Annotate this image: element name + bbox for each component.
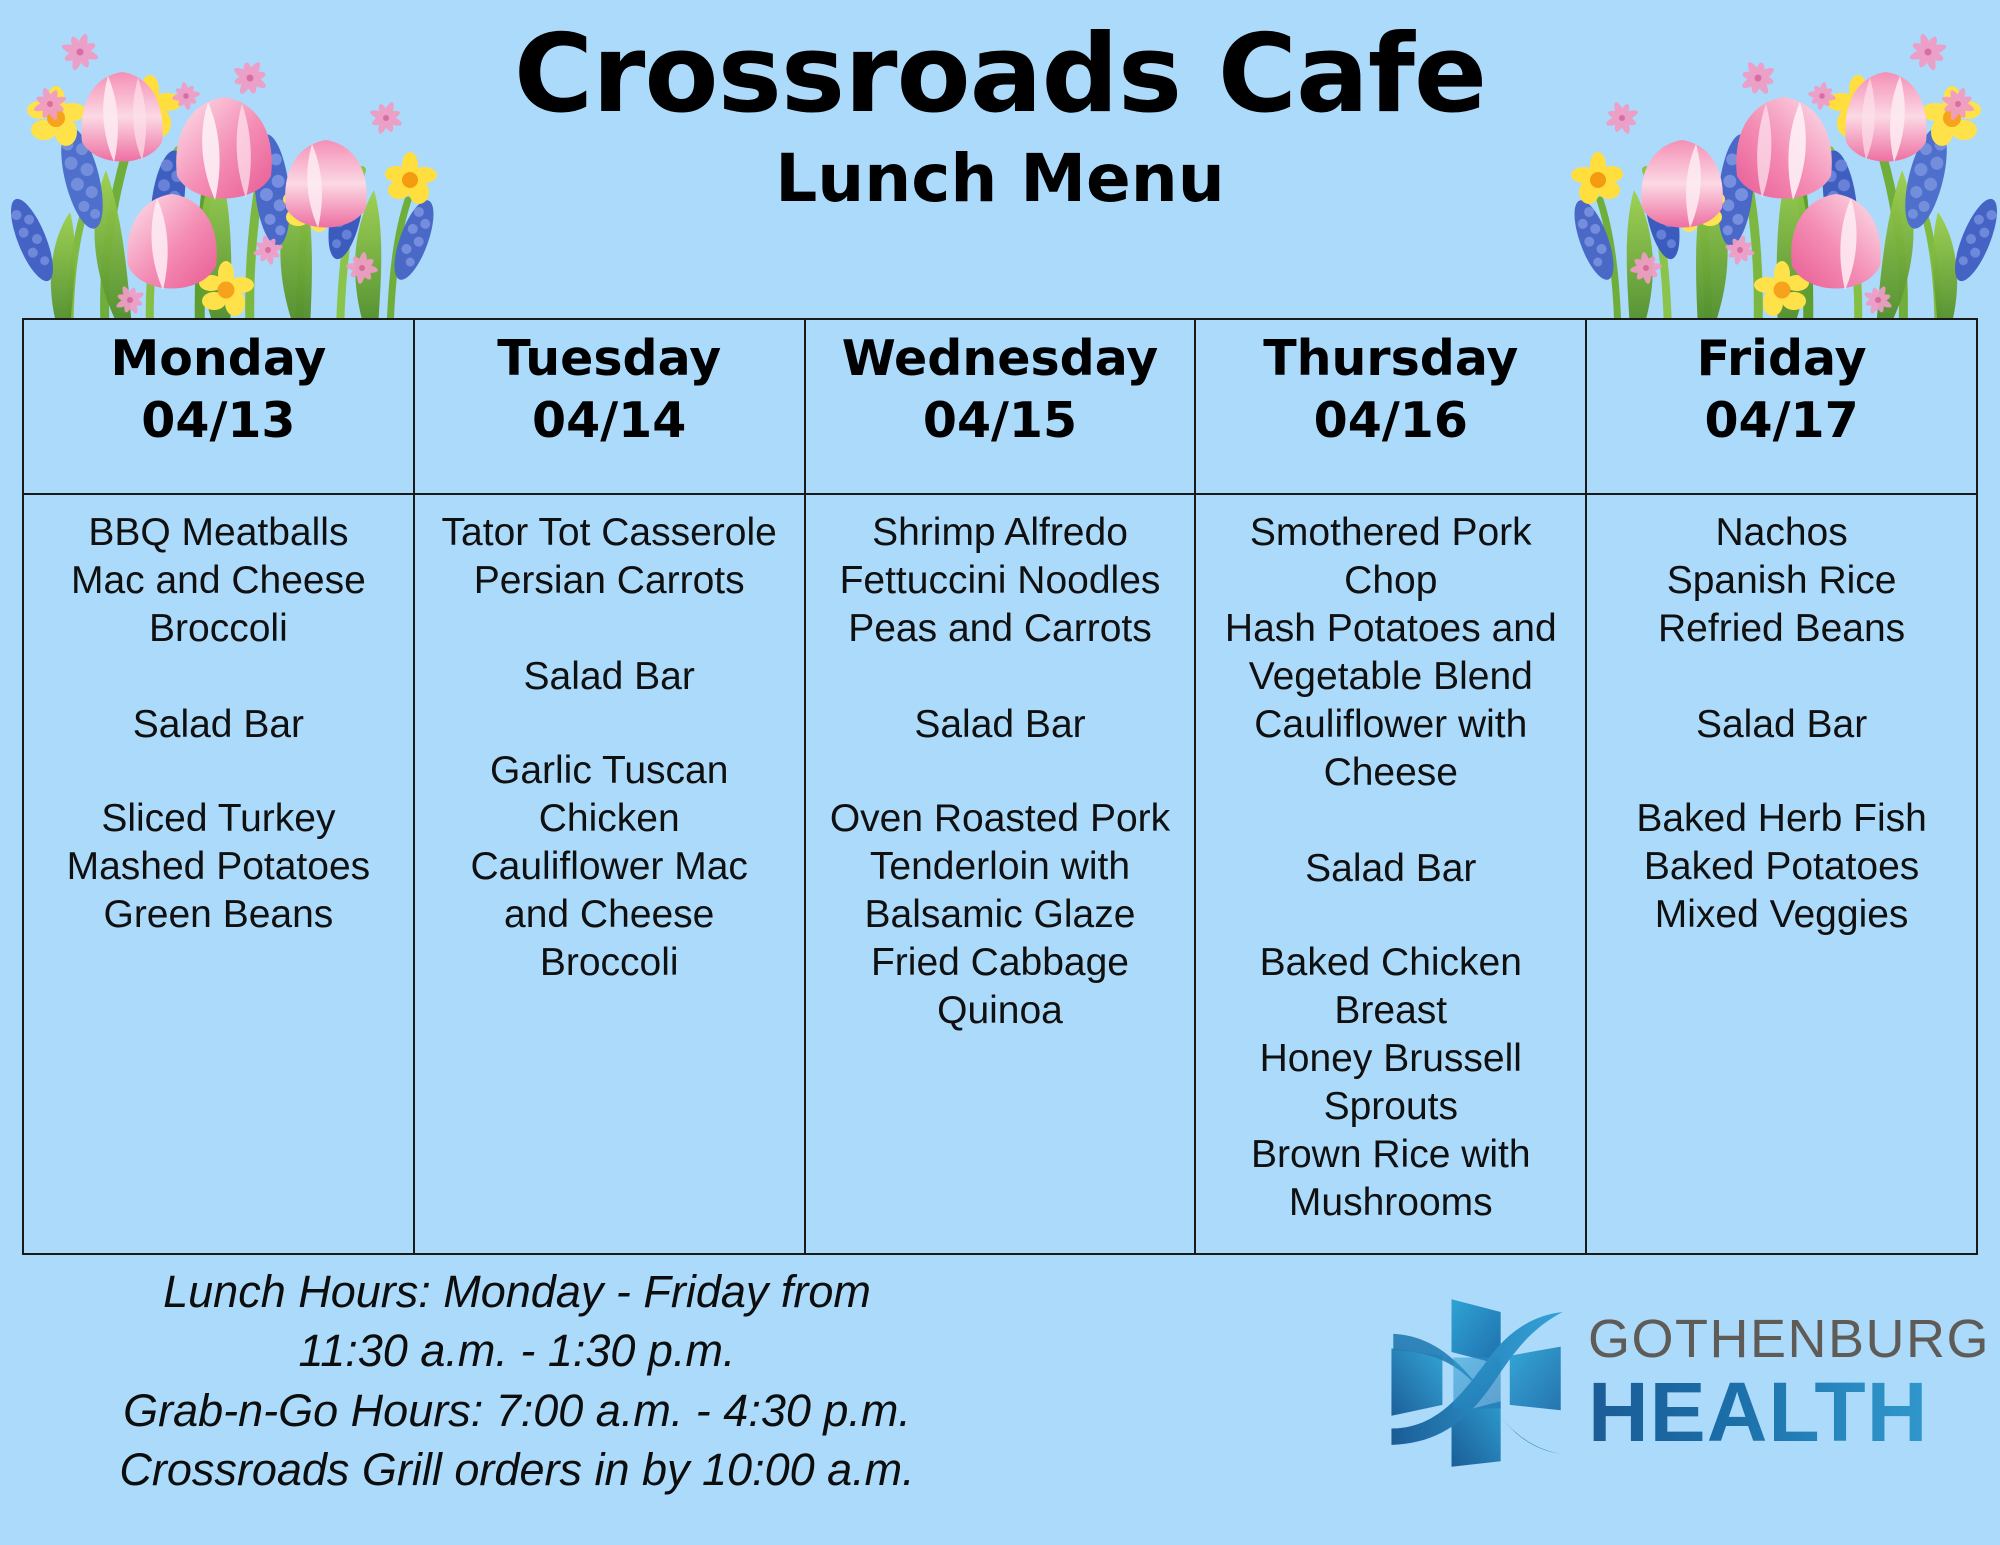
menu-item: Salad Bar bbox=[814, 701, 1187, 749]
day-name-label: Friday bbox=[1591, 330, 1972, 388]
day-date-label: 04/14 bbox=[419, 392, 800, 450]
spacer bbox=[32, 653, 405, 701]
poster-footer: Lunch Hours: Monday - Friday from11:30 a… bbox=[0, 1258, 2000, 1545]
spacer bbox=[814, 653, 1187, 701]
day-cell-thursday: Smothered PorkChopHash Potatoes andVeget… bbox=[1195, 494, 1586, 1254]
salad-block: Salad Bar bbox=[814, 701, 1187, 749]
day-date-label: 04/15 bbox=[810, 392, 1191, 450]
menu-item: Brown Rice with bbox=[1204, 1131, 1577, 1179]
day-header-wednesday: Wednesday 04/15 bbox=[805, 319, 1196, 494]
menu-item: BBQ Meatballs bbox=[32, 509, 405, 557]
menu-item: Sliced Turkey bbox=[32, 795, 405, 843]
hours-line: Grab-n-Go Hours: 7:00 a.m. - 4:30 p.m. bbox=[12, 1381, 1022, 1440]
day-date-label: 04/17 bbox=[1591, 392, 1972, 450]
dinner-block: Baked ChickenBreastHoney BrussellSprouts… bbox=[1204, 939, 1577, 1227]
menu-item: Chop bbox=[1204, 557, 1577, 605]
hours-line: 11:30 a.m. - 1:30 p.m. bbox=[12, 1321, 1022, 1380]
day-name-label: Monday bbox=[28, 330, 409, 388]
hours-line: Crossroads Grill orders in by 10:00 a.m. bbox=[12, 1440, 1022, 1499]
menu-item: Sprouts bbox=[1204, 1083, 1577, 1131]
day-header-tuesday: Tuesday 04/14 bbox=[414, 319, 805, 494]
day-header-monday: Monday 04/13 bbox=[23, 319, 414, 494]
lunch-block: NachosSpanish RiceRefried Beans bbox=[1595, 509, 1968, 653]
spacer bbox=[423, 605, 796, 653]
day-cell-wednesday: Shrimp AlfredoFettuccini NoodlesPeas and… bbox=[805, 494, 1196, 1254]
menu-item: Baked Potatoes bbox=[1595, 843, 1968, 891]
menu-item: Salad Bar bbox=[1595, 701, 1968, 749]
menu-item: Peas and Carrots bbox=[814, 605, 1187, 653]
menu-item: Honey Brussell bbox=[1204, 1035, 1577, 1083]
menu-item: Tator Tot Casserole bbox=[423, 509, 796, 557]
gothenburg-health-logo: GOTHENBURG HEALTH bbox=[1386, 1288, 1976, 1478]
menu-item: Refried Beans bbox=[1595, 605, 1968, 653]
dinner-block: Oven Roasted PorkTenderloin withBalsamic… bbox=[814, 795, 1187, 1035]
lunch-block: Shrimp AlfredoFettuccini NoodlesPeas and… bbox=[814, 509, 1187, 653]
lunch-block: Smothered PorkChopHash Potatoes andVeget… bbox=[1204, 509, 1577, 797]
menu-item: Broccoli bbox=[423, 939, 796, 987]
menu-item: Shrimp Alfredo bbox=[814, 509, 1187, 557]
menu-item: Salad Bar bbox=[1204, 845, 1577, 893]
spacer bbox=[32, 749, 405, 795]
day-cell-friday: NachosSpanish RiceRefried Beans Salad Ba… bbox=[1586, 494, 1977, 1254]
menu-item: Salad Bar bbox=[423, 653, 796, 701]
logo-text-health: HEALTH bbox=[1588, 1370, 1990, 1454]
page-title: Crossroads Cafe bbox=[0, 18, 2000, 131]
hours-block: Lunch Hours: Monday - Friday from11:30 a… bbox=[12, 1262, 1022, 1500]
salad-block: Salad Bar bbox=[1595, 701, 1968, 749]
day-name-label: Wednesday bbox=[810, 330, 1191, 388]
spacer bbox=[1595, 653, 1968, 701]
menu-item: and Cheese bbox=[423, 891, 796, 939]
spacer bbox=[423, 701, 796, 747]
menu-item: Breast bbox=[1204, 987, 1577, 1035]
day-date-label: 04/16 bbox=[1200, 392, 1581, 450]
menu-item: Salad Bar bbox=[32, 701, 405, 749]
menu-item: Mac and Cheese bbox=[32, 557, 405, 605]
day-name-label: Tuesday bbox=[419, 330, 800, 388]
salad-block: Salad Bar bbox=[32, 701, 405, 749]
dinner-block: Sliced TurkeyMashed PotatoesGreen Beans bbox=[32, 795, 405, 939]
lunch-block: Tator Tot CasserolePersian Carrots bbox=[423, 509, 796, 605]
spacer bbox=[814, 749, 1187, 795]
menu-item: Baked Chicken bbox=[1204, 939, 1577, 987]
day-header-thursday: Thursday 04/16 bbox=[1195, 319, 1586, 494]
table-header-row: Monday 04/13 Tuesday 04/14 Wednesday 04/… bbox=[23, 319, 1977, 494]
day-cell-tuesday: Tator Tot CasserolePersian Carrots Salad… bbox=[414, 494, 805, 1254]
menu-item: Fried Cabbage bbox=[814, 939, 1187, 987]
menu-item: Mixed Veggies bbox=[1595, 891, 1968, 939]
menu-item: Tenderloin with bbox=[814, 843, 1187, 891]
menu-item: Baked Herb Fish bbox=[1595, 795, 1968, 843]
poster-header: Crossroads Cafe Lunch Menu bbox=[0, 0, 2000, 305]
spacer bbox=[1204, 797, 1577, 845]
menu-item: Broccoli bbox=[32, 605, 405, 653]
menu-item: Mashed Potatoes bbox=[32, 843, 405, 891]
menu-item: Oven Roasted Pork bbox=[814, 795, 1187, 843]
menu-item: Cauliflower Mac bbox=[423, 843, 796, 891]
dinner-block: Garlic TuscanChickenCauliflower Macand C… bbox=[423, 747, 796, 987]
gothenburg-health-ribbon-cross-icon bbox=[1386, 1292, 1568, 1474]
salad-block: Salad Bar bbox=[1204, 845, 1577, 893]
menu-item: Cauliflower with bbox=[1204, 701, 1577, 749]
day-name-label: Thursday bbox=[1200, 330, 1581, 388]
page-subtitle: Lunch Menu bbox=[0, 143, 2000, 216]
lunch-block: BBQ MeatballsMac and CheeseBroccoli bbox=[32, 509, 405, 653]
menu-item: Garlic Tuscan bbox=[423, 747, 796, 795]
menu-item: Mushrooms bbox=[1204, 1179, 1577, 1227]
logo-text-gothenburg: GOTHENBURG bbox=[1588, 1312, 1990, 1366]
menu-item: Quinoa bbox=[814, 987, 1187, 1035]
menu-item: Green Beans bbox=[32, 891, 405, 939]
menu-item: Chicken bbox=[423, 795, 796, 843]
day-date-label: 04/13 bbox=[28, 392, 409, 450]
day-cell-monday: BBQ MeatballsMac and CheeseBroccoli Sala… bbox=[23, 494, 414, 1254]
menu-item: Fettuccini Noodles bbox=[814, 557, 1187, 605]
dinner-block: Baked Herb FishBaked PotatoesMixed Veggi… bbox=[1595, 795, 1968, 939]
menu-item: Hash Potatoes and bbox=[1204, 605, 1577, 653]
hours-line: Lunch Hours: Monday - Friday from bbox=[12, 1262, 1022, 1321]
salad-block: Salad Bar bbox=[423, 653, 796, 701]
table-body-row: BBQ MeatballsMac and CheeseBroccoli Sala… bbox=[23, 494, 1977, 1254]
weekly-menu-table: Monday 04/13 Tuesday 04/14 Wednesday 04/… bbox=[22, 318, 1978, 1255]
spacer bbox=[1204, 893, 1577, 939]
menu-item: Balsamic Glaze bbox=[814, 891, 1187, 939]
menu-item: Cheese bbox=[1204, 749, 1577, 797]
menu-poster: Crossroads Cafe Lunch Menu Monday 04/13 … bbox=[0, 0, 2000, 1545]
day-header-friday: Friday 04/17 bbox=[1586, 319, 1977, 494]
menu-item: Persian Carrots bbox=[423, 557, 796, 605]
menu-table-container: Monday 04/13 Tuesday 04/14 Wednesday 04/… bbox=[22, 318, 1978, 1255]
menu-item: Spanish Rice bbox=[1595, 557, 1968, 605]
logo-wordmark: GOTHENBURG HEALTH bbox=[1588, 1312, 1990, 1454]
spacer bbox=[1595, 749, 1968, 795]
menu-item: Smothered Pork bbox=[1204, 509, 1577, 557]
menu-item: Nachos bbox=[1595, 509, 1968, 557]
menu-item: Vegetable Blend bbox=[1204, 653, 1577, 701]
